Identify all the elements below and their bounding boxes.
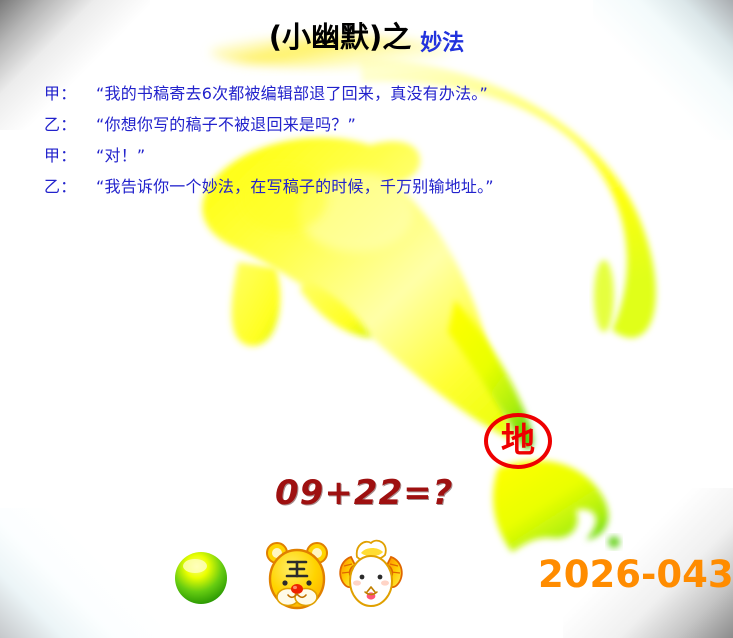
green-ball-icon [172, 549, 230, 607]
dialogue-line: 乙：“我告诉你一个妙法，在写稿子的时候，千万别输地址。” [44, 171, 684, 202]
page-title: (小幽默)之妙法 [0, 14, 733, 56]
issue-number-text: 2026-043 [538, 553, 733, 596]
dialogue-speaker: 甲： [44, 140, 96, 171]
dialogue-quote: “我的书稿寄去6次都被编辑部退了回来，真没有办法。” [96, 84, 488, 103]
dialogue-line: 甲：“我的书稿寄去6次都被编辑部退了回来，真没有办法。” [44, 78, 684, 109]
title-main-text: (小幽默)之 [269, 20, 412, 54]
title-sub-text: 妙法 [420, 31, 464, 56]
tiger-face-icon [263, 539, 331, 613]
dialogue-line: 甲：“对！” [44, 140, 684, 171]
joke-dialogue: 甲：“我的书稿寄去6次都被编辑部退了回来，真没有办法。” 乙：“你想你写的稿子不… [44, 78, 684, 202]
corner-shadow-bottom-left [0, 508, 160, 638]
dialogue-line: 乙：“你想你写的稿子不被退回来是吗？” [44, 109, 684, 140]
dialogue-quote: “你想你写的稿子不被退回来是吗？” [96, 115, 356, 134]
dialogue-speaker: 乙： [44, 171, 96, 202]
poster-canvas: (小幽默)之妙法 甲：“我的书稿寄去6次都被编辑部退了回来，真没有办法。” 乙：… [0, 0, 733, 638]
red-seal-stamp: 地 [484, 413, 552, 469]
seal-character: 地 [484, 413, 552, 469]
dialogue-quote: “我告诉你一个妙法，在写稿子的时候，千万别输地址。” [96, 177, 494, 196]
dialogue-speaker: 乙： [44, 109, 96, 140]
formula-text: 09+22=? [275, 473, 453, 513]
dialogue-quote: “对！” [96, 146, 145, 165]
sheep-face-icon [335, 537, 407, 613]
dialogue-speaker: 甲： [44, 78, 96, 109]
